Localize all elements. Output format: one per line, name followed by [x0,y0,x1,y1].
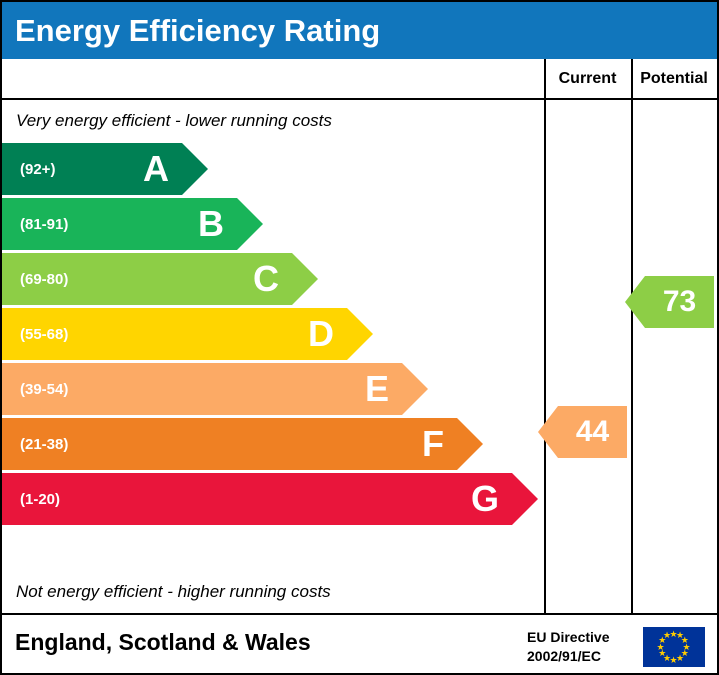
column-header-potential: Potential [631,59,717,98]
footer-directive: EU Directive 2002/91/EC [527,628,609,666]
band-range: (1-20) [2,491,60,508]
divider-current [544,59,546,613]
band-range: (39-54) [2,381,68,398]
note-inefficient: Not energy efficient - higher running co… [16,582,331,602]
band-arrow-icon [237,198,263,250]
band-arrow-icon [347,308,373,360]
marker-pointer-icon [538,406,558,458]
current-rating-value: 44 [576,415,609,449]
band-row: (21-38) F [2,418,457,470]
directive-line-2: 2002/91/EC [527,647,609,666]
band-arrow-icon [182,143,208,195]
band-range: (21-38) [2,436,68,453]
column-header-current: Current [544,59,631,98]
page-title: Energy Efficiency Rating [2,13,380,49]
band-letter: E [365,368,389,410]
epc-chart: Energy Efficiency Rating Current Potenti… [0,0,719,675]
band-range: (81-91) [2,216,68,233]
band-row: (1-20) G [2,473,512,525]
potential-rating-value: 73 [663,285,696,319]
band-range: (69-80) [2,271,68,288]
band-row: (69-80) C [2,253,292,305]
band-arrow-icon [402,363,428,415]
band-letter: B [198,203,224,245]
potential-rating-marker: 73 [645,276,714,328]
footer-region-label: England, Scotland & Wales [15,629,311,656]
band-letter: C [253,258,279,300]
band-row: (55-68) D [2,308,347,360]
directive-line-1: EU Directive [527,628,609,647]
note-efficient: Very energy efficient - lower running co… [16,111,332,131]
band-row: (39-54) E [2,363,402,415]
divider-potential [631,59,633,613]
chart-header: Energy Efficiency Rating [2,2,717,59]
column-header-row: Current Potential [2,59,717,100]
band-letter: A [143,148,169,190]
band-list: Very energy efficient - lower running co… [2,100,544,613]
band-letter: F [422,423,444,465]
band-row: (81-91) B [2,198,237,250]
band-range: (55-68) [2,326,68,343]
eu-flag-icon: ★★★★★★★★★★★★ [643,627,705,667]
band-range: (92+) [2,161,55,178]
current-rating-marker: 44 [558,406,627,458]
marker-pointer-icon [625,276,645,328]
band-arrow-icon [292,253,318,305]
band-row: (92+) A [2,143,182,195]
chart-footer: England, Scotland & Wales EU Directive 2… [2,613,717,673]
band-letter: D [308,313,334,355]
band-arrow-icon [457,418,483,470]
eu-star-icon: ★ [663,631,671,640]
band-arrow-icon [512,473,538,525]
band-letter: G [471,478,499,520]
